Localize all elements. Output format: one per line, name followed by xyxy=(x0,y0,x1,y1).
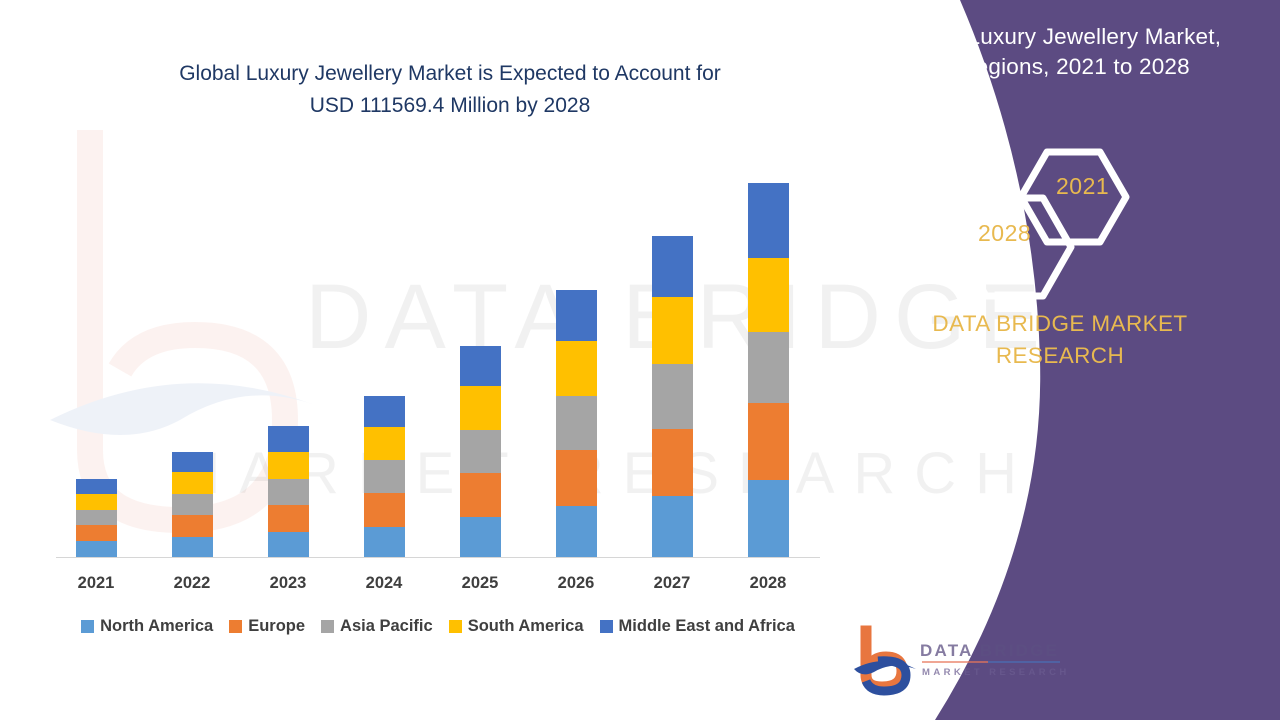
bar-segment-2022-north-america xyxy=(172,537,213,557)
legend-swatch-icon xyxy=(229,620,242,633)
bar-segment-2027-south-america xyxy=(652,297,693,364)
bar-segment-2022-middle-east-and-africa xyxy=(172,452,213,472)
legend-label: Europe xyxy=(248,617,305,636)
bar-segment-2021-middle-east-and-africa xyxy=(76,479,117,494)
legend-swatch-icon xyxy=(600,620,613,633)
dbmr-logo-sub-text: MARKET RESEARCH xyxy=(922,667,1070,678)
x-axis-label-2024: 2024 xyxy=(349,574,419,593)
bar-segment-2021-north-america xyxy=(76,541,117,557)
side-panel: Global Luxury Jewellery Market, By Regio… xyxy=(840,0,1280,720)
bar-segment-2027-north-america xyxy=(652,496,693,557)
bar-segment-2026-europe xyxy=(556,450,597,506)
legend-item-middle-east-and-africa[interactable]: Middle East and Africa xyxy=(600,617,795,636)
bar-segment-2023-north-america xyxy=(268,532,309,557)
bar-segment-2028-europe xyxy=(748,403,789,480)
bar-segment-2024-europe xyxy=(364,493,405,527)
dbmr-logo: DATA BRIDGE MARKET RESEARCH xyxy=(848,625,1078,697)
dbmr-logo-main-text: DATA BRIDGE xyxy=(920,641,1059,661)
bar-segment-2026-middle-east-and-africa xyxy=(556,290,597,341)
panel-content: Global Luxury Jewellery Market, By Regio… xyxy=(840,0,1280,720)
bar-segment-2021-europe xyxy=(76,525,117,541)
hexagon-2028-shape xyxy=(958,198,1071,296)
bar-2026 xyxy=(556,290,597,557)
x-axis-label-2028: 2028 xyxy=(733,574,803,593)
chart-area: DATA BRIDGE MARKET RESEARCH Global Luxur… xyxy=(0,0,880,720)
legend-item-north-america[interactable]: North America xyxy=(81,617,213,636)
bar-segment-2028-middle-east-and-africa xyxy=(748,183,789,258)
infographic-root: DATA BRIDGE MARKET RESEARCH Global Luxur… xyxy=(0,0,1280,720)
bar-segment-2026-south-america xyxy=(556,341,597,396)
bar-segment-2025-middle-east-and-africa xyxy=(460,346,501,386)
x-axis-label-2026: 2026 xyxy=(541,574,611,593)
x-axis-label-2022: 2022 xyxy=(157,574,227,593)
panel-title: Global Luxury Jewellery Market, By Regio… xyxy=(858,22,1258,82)
bar-2025 xyxy=(460,346,501,557)
hexagon-2028-label: 2028 xyxy=(978,220,1031,247)
bar-segment-2026-asia-pacific xyxy=(556,396,597,450)
legend-item-south-america[interactable]: South America xyxy=(449,617,584,636)
legend-swatch-icon xyxy=(449,620,462,633)
panel-title-line2: By Regions, 2021 to 2028 xyxy=(858,52,1258,82)
bar-2021 xyxy=(76,479,117,557)
legend-item-europe[interactable]: Europe xyxy=(229,617,305,636)
legend-label: North America xyxy=(100,617,213,636)
legend-label: South America xyxy=(468,617,584,636)
bar-segment-2028-south-america xyxy=(748,258,789,332)
bar-2022 xyxy=(172,452,213,557)
bar-segment-2024-asia-pacific xyxy=(364,460,405,493)
bar-segment-2025-north-america xyxy=(460,517,501,557)
bar-segment-2024-north-america xyxy=(364,527,405,557)
brand-name-line1: DATA BRIDGE MARKET xyxy=(860,308,1260,340)
legend-swatch-icon xyxy=(321,620,334,633)
x-axis-label-2025: 2025 xyxy=(445,574,515,593)
bar-segment-2028-asia-pacific xyxy=(748,332,789,403)
bar-segment-2023-europe xyxy=(268,505,309,532)
hexagon-2021-label: 2021 xyxy=(1056,173,1109,200)
bar-2027 xyxy=(652,236,693,557)
legend-item-asia-pacific[interactable]: Asia Pacific xyxy=(321,617,433,636)
legend-label: Middle East and Africa xyxy=(619,617,795,636)
bar-segment-2023-south-america xyxy=(268,452,309,479)
bar-segment-2023-asia-pacific xyxy=(268,479,309,505)
bar-segment-2021-asia-pacific xyxy=(76,510,117,525)
legend-label: Asia Pacific xyxy=(340,617,433,636)
bar-segment-2028-north-america xyxy=(748,480,789,557)
bar-segment-2022-asia-pacific xyxy=(172,494,213,515)
bar-2023 xyxy=(268,426,309,557)
bar-segment-2021-south-america xyxy=(76,494,117,510)
bar-segment-2027-middle-east-and-africa xyxy=(652,236,693,297)
bar-2024 xyxy=(364,396,405,557)
x-axis-label-2027: 2027 xyxy=(637,574,707,593)
bar-segment-2027-europe xyxy=(652,429,693,496)
bar-segment-2024-south-america xyxy=(364,427,405,460)
bar-segment-2026-north-america xyxy=(556,506,597,557)
bar-segment-2022-south-america xyxy=(172,472,213,494)
plot-region: 20212022202320242025202620272028 xyxy=(0,0,880,720)
brand-name-line2: RESEARCH xyxy=(860,340,1260,372)
bar-segment-2025-south-america xyxy=(460,386,501,430)
x-axis-label-2023: 2023 xyxy=(253,574,323,593)
bar-2028 xyxy=(748,183,789,557)
bar-segment-2022-europe xyxy=(172,515,213,537)
bar-segment-2023-middle-east-and-africa xyxy=(268,426,309,452)
x-axis-label-2021: 2021 xyxy=(61,574,131,593)
bar-segment-2024-middle-east-and-africa xyxy=(364,396,405,427)
hexagon-badges: 2021 2028 xyxy=(940,140,1190,300)
chart-legend: North AmericaEuropeAsia PacificSouth Ame… xyxy=(56,617,820,636)
dbmr-logo-rule xyxy=(922,661,1060,663)
panel-title-line1: Global Luxury Jewellery Market, xyxy=(858,22,1258,52)
bar-segment-2025-asia-pacific xyxy=(460,430,501,473)
brand-name: DATA BRIDGE MARKET RESEARCH xyxy=(860,308,1260,372)
bar-segment-2027-asia-pacific xyxy=(652,364,693,429)
x-axis-line xyxy=(56,557,820,558)
bar-segment-2025-europe xyxy=(460,473,501,517)
legend-swatch-icon xyxy=(81,620,94,633)
